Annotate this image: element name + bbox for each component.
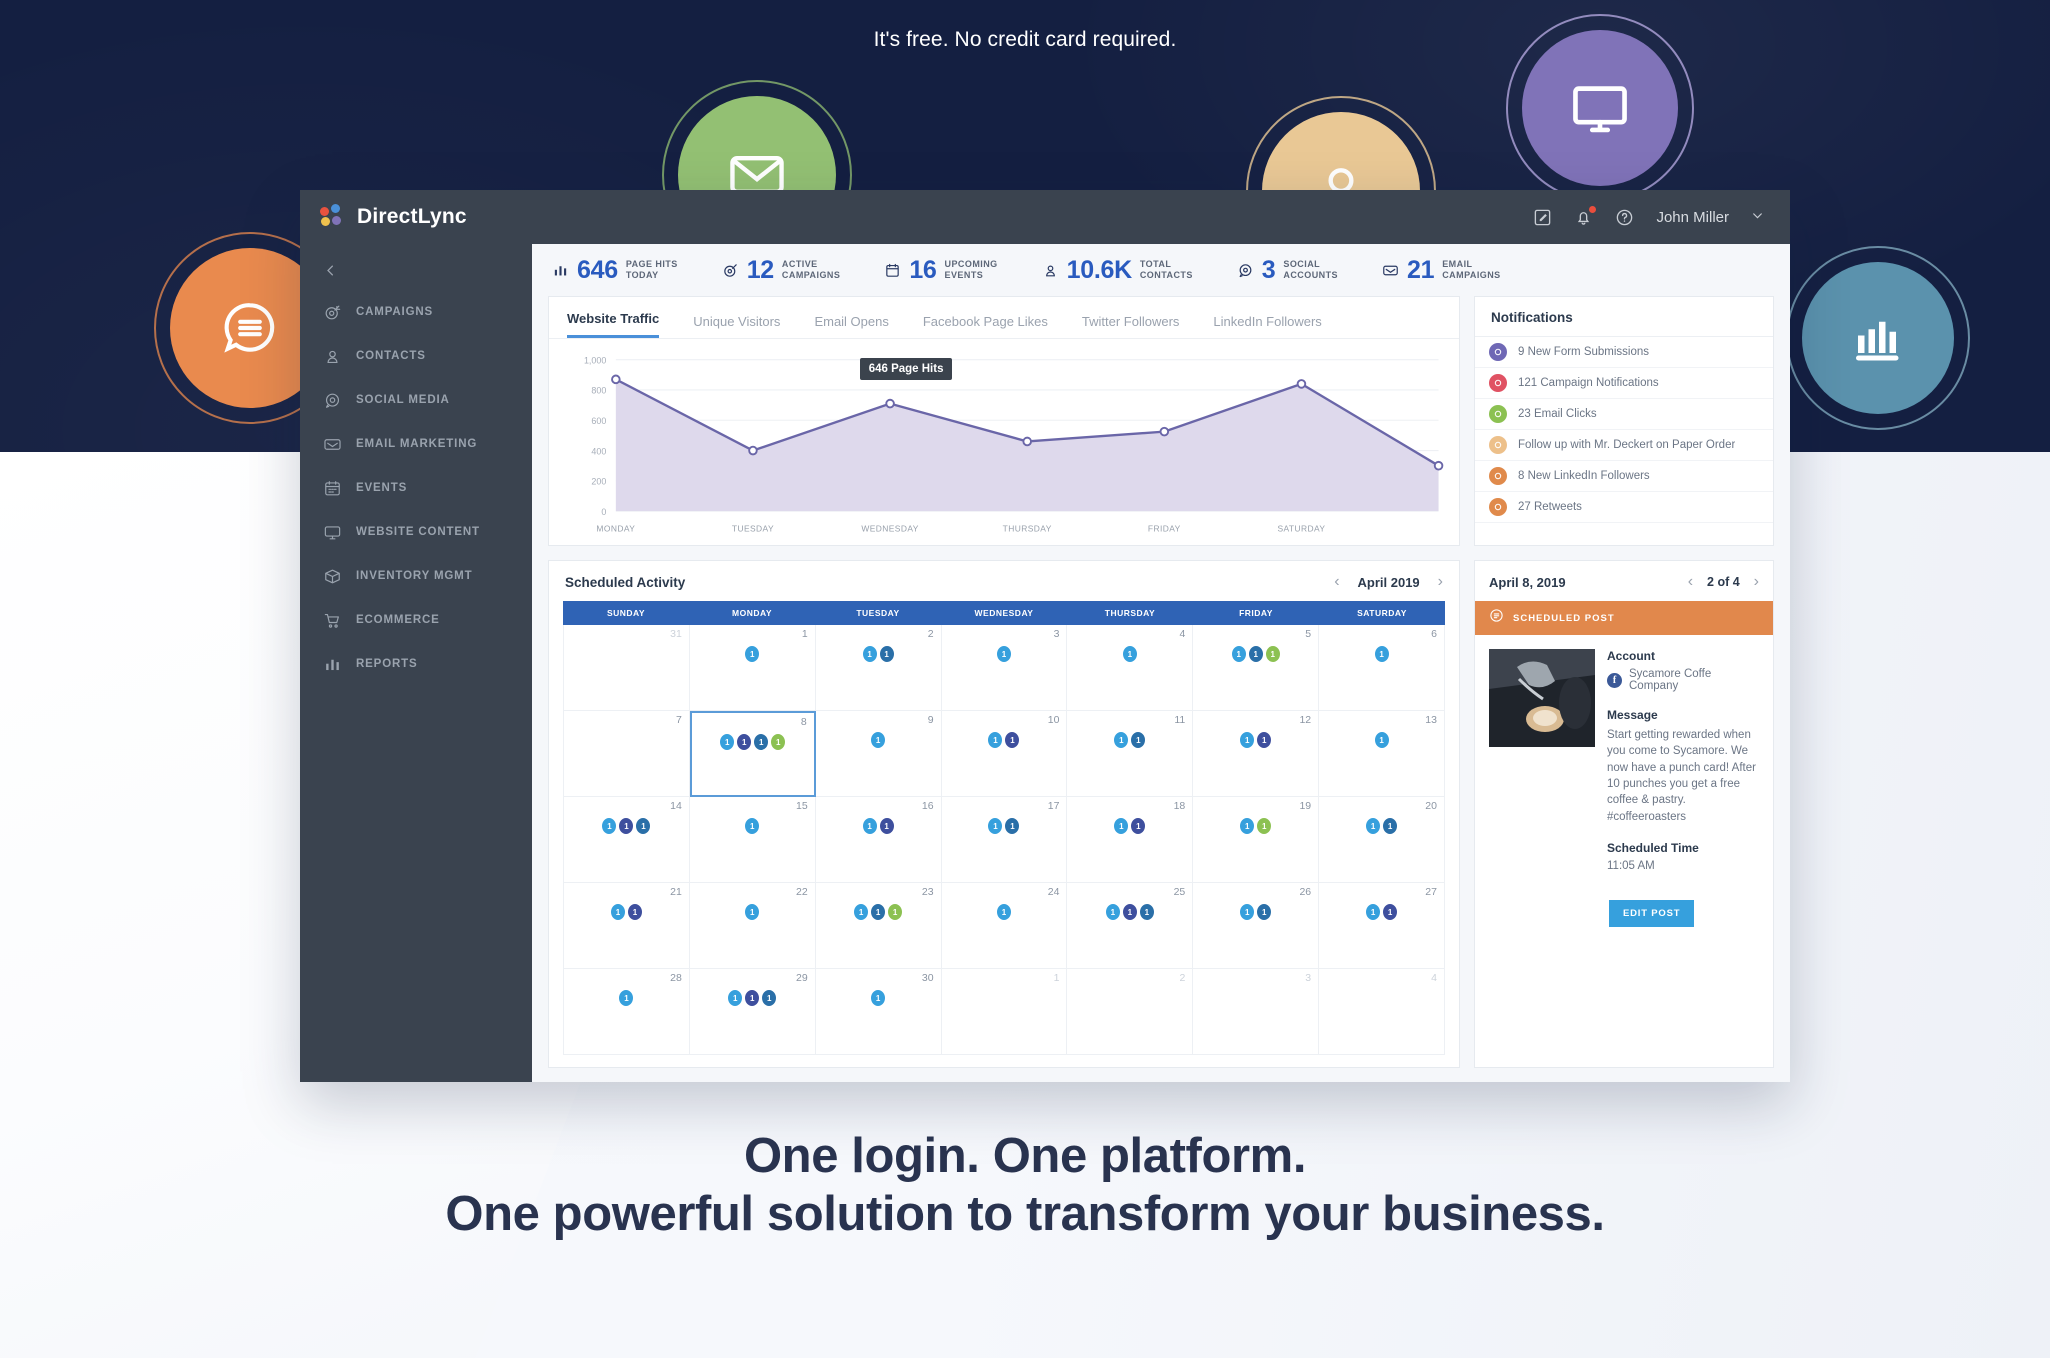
post-thumbnail — [1489, 649, 1595, 747]
calendar-day-cell[interactable]: 2111 — [564, 883, 690, 969]
calendar-event-dot[interactable]: 1 — [1249, 646, 1263, 662]
calendar-day-number: 17 — [1048, 800, 1060, 812]
post-message-label: Message — [1607, 708, 1759, 722]
calendar-day-number: 26 — [1299, 886, 1311, 898]
calendar-event-dot[interactable]: 1 — [1140, 904, 1154, 920]
calendar-event-dot[interactable]: 1 — [1375, 646, 1389, 662]
compose-icon[interactable] — [1533, 208, 1552, 227]
calendar-event-dot[interactable]: 1 — [1131, 818, 1145, 834]
calendar-day-number: 6 — [1431, 628, 1437, 640]
calendar-event-dot[interactable]: 1 — [745, 990, 759, 1006]
brand: DirectLync — [300, 204, 532, 230]
dashboard-lower-row: Scheduled Activity ‹ April 2019 › SUNDAY… — [548, 560, 1774, 1068]
notification-text: 23 Email Clicks — [1518, 408, 1597, 420]
calendar-event-dot[interactable]: 1 — [871, 990, 885, 1006]
calendar-day-cell[interactable]: 1711 — [942, 797, 1068, 883]
calendar-prev-button[interactable]: ‹ — [1334, 573, 1339, 591]
calendar-event-dots: 11 — [816, 646, 941, 662]
edit-post-button[interactable]: EDIT POST — [1609, 900, 1694, 927]
sidebar-label: ECOMMERCE — [356, 614, 440, 626]
stat-page-hits: 646 PAGE HITS TODAY — [552, 256, 678, 285]
notification-item[interactable]: 121 Campaign Notifications — [1475, 368, 1773, 399]
calendar-event-dot[interactable]: 1 — [611, 904, 625, 920]
sidebar-label: REPORTS — [356, 658, 418, 670]
calendar-event-dot[interactable]: 1 — [1240, 818, 1254, 834]
calendar-day-cell[interactable]: 14111 — [564, 797, 690, 883]
chat-icon — [323, 391, 342, 410]
chart-badge — [1802, 262, 1954, 414]
main-content: 646 PAGE HITS TODAY 12 ACTIVE CAMPAIGNS — [532, 244, 1790, 1082]
calendar-day-number: 2 — [928, 628, 934, 640]
sidebar-label: WEBSITE CONTENT — [356, 526, 480, 538]
contact-icon — [1489, 436, 1507, 454]
target-icon — [323, 303, 342, 322]
calendar-event-dots: 11 — [1067, 818, 1192, 834]
stat-value: 12 — [747, 256, 774, 285]
calendar-day-cell[interactable]: 301 — [816, 969, 942, 1055]
calendar-event-dots: 1 — [942, 646, 1067, 662]
monitor-icon — [1569, 77, 1631, 139]
calendar-title: Scheduled Activity — [565, 575, 685, 590]
envelope-icon — [1382, 262, 1399, 279]
calendar-week: 281291113011234 — [564, 969, 1445, 1055]
calendar-day-number: 8 — [801, 716, 807, 728]
calendar-event-dot[interactable]: 1 — [880, 646, 894, 662]
svg-text:MONDAY: MONDAY — [596, 523, 635, 533]
app-body: CAMPAIGNS CONTACTS SOCI — [300, 244, 1790, 1082]
contact-icon — [1042, 262, 1059, 279]
calendar-event-dot[interactable]: 1 — [1240, 732, 1254, 748]
chat-icon — [1237, 262, 1254, 279]
calendar-event-dots: 1 — [1319, 646, 1444, 662]
calendar-day-cell[interactable]: 1011 — [942, 711, 1068, 797]
help-circle-icon[interactable] — [1615, 208, 1634, 227]
calendar-event-dot[interactable]: 1 — [1131, 732, 1145, 748]
target-icon — [1489, 374, 1507, 392]
calendar-event-dot[interactable]: 1 — [745, 646, 759, 662]
stat-line2: ACCOUNTS — [1283, 270, 1338, 280]
stat-line1: PAGE HITS — [626, 259, 678, 269]
calendar-event-dot[interactable]: 1 — [1383, 818, 1397, 834]
contact-icon — [323, 347, 342, 366]
calendar-event-dots: 111 — [564, 818, 689, 834]
calendar-grid: SUNDAYMONDAYTUESDAYWEDNESDAYTHURSDAYFRID… — [549, 601, 1459, 1067]
calendar-day-cell[interactable]: 151 — [690, 797, 816, 883]
calendar-day-cell[interactable]: 1 — [942, 969, 1068, 1055]
chart-tab-unique-visitors[interactable]: Unique Visitors — [693, 314, 780, 338]
calendar-day-cell[interactable]: 131 — [1319, 711, 1445, 797]
calendar-day-cell[interactable]: 221 — [690, 883, 816, 969]
calendar-event-dot[interactable]: 1 — [1257, 732, 1271, 748]
calendar-event-dots: 111 — [690, 990, 815, 1006]
post-banner-label: SCHEDULED POST — [1513, 613, 1615, 624]
calendar-event-dots: 11 — [942, 732, 1067, 748]
target-icon — [722, 262, 739, 279]
calendar-header: Scheduled Activity ‹ April 2019 › — [549, 561, 1459, 601]
calendar-event-dot[interactable]: 1 — [771, 734, 785, 750]
calendar-event-dot[interactable]: 1 — [745, 818, 759, 834]
calendar-event-dot[interactable]: 1 — [737, 734, 751, 750]
sidebar-item-inventory-mgmt[interactable]: INVENTORY MGMT — [300, 554, 532, 598]
calendar-day-number: 12 — [1299, 714, 1311, 726]
stat-upcoming-events: 16 UPCOMING EVENTS — [884, 256, 997, 285]
calendar-event-dots: 1 — [690, 646, 815, 662]
calendar-event-dot[interactable]: 1 — [1366, 904, 1380, 920]
calendar-event-dots: 11 — [816, 818, 941, 834]
chart-tab-website-traffic[interactable]: Website Traffic — [567, 311, 659, 338]
post-nav: ‹ 2 of 4 › — [1688, 573, 1759, 591]
calendar-day-number: 13 — [1425, 714, 1437, 726]
calendar-day-number: 25 — [1174, 886, 1186, 898]
calendar-event-dot[interactable]: 1 — [1375, 732, 1389, 748]
post-time: 11:05 AM — [1607, 860, 1759, 872]
calendar-day-cell[interactable]: 211 — [816, 625, 942, 711]
notifications-title: Notifications — [1475, 297, 1773, 337]
sidebar-collapse-button[interactable] — [300, 250, 532, 290]
calendar-event-dots: 1 — [942, 904, 1067, 920]
chart-tooltip: 646 Page Hits — [860, 358, 953, 380]
calendar-dow-wednesday: WEDNESDAY — [941, 601, 1067, 625]
calendar-nav: ‹ April 2019 › — [1334, 573, 1443, 591]
calendar-event-dot[interactable]: 1 — [636, 818, 650, 834]
calendar-event-dot[interactable]: 1 — [1257, 818, 1271, 834]
chevron-down-icon[interactable] — [1751, 209, 1764, 225]
headline-line-2: One powerful solution to transform your … — [0, 1186, 2050, 1244]
bar-chart-icon — [552, 262, 569, 279]
sidebar-item-email-marketing[interactable]: EMAIL MARKETING — [300, 422, 532, 466]
calendar-day-number: 31 — [670, 628, 682, 640]
calendar-event-dots: 1 — [1319, 732, 1444, 748]
calendar-event-dots: 1 — [690, 904, 815, 920]
calendar-dow-saturday: SATURDAY — [1319, 601, 1445, 625]
post-account-name: Sycamore Coffe Company — [1629, 668, 1759, 692]
hero-tagline: It's free. No credit card required. — [0, 28, 2050, 52]
stat-line1: ACTIVE — [782, 259, 818, 269]
calendar-day-number: 28 — [670, 972, 682, 984]
stats-bar: 646 PAGE HITS TODAY 12 ACTIVE CAMPAIGNS — [548, 244, 1774, 296]
notifications-list: 9 New Form Submissions121 Campaign Notif… — [1475, 337, 1773, 545]
calendar-day-number: 4 — [1179, 628, 1185, 640]
calendar-day-cell[interactable]: 81111 — [690, 711, 816, 797]
notification-text: 9 New Form Submissions — [1518, 346, 1649, 358]
calendar-event-dot[interactable]: 1 — [1240, 904, 1254, 920]
calendar-event-dot[interactable]: 1 — [863, 646, 877, 662]
chart-tab-twitter-followers[interactable]: Twitter Followers — [1082, 314, 1180, 338]
calendar-event-dots: 1 — [816, 990, 941, 1006]
post-account: f Sycamore Coffe Company — [1607, 668, 1759, 692]
chart-tab-facebook-page-likes[interactable]: Facebook Page Likes — [923, 314, 1048, 338]
stat-line2: EVENTS — [945, 270, 984, 280]
calendar-event-dot[interactable]: 1 — [619, 818, 633, 834]
calendar-day-number: 14 — [670, 800, 682, 812]
stat-line2: CAMPAIGNS — [782, 270, 840, 280]
calendar-event-dots: 11 — [1193, 904, 1318, 920]
calendar-event-dot[interactable]: 1 — [1123, 904, 1137, 920]
calendar-day-cell[interactable]: 1211 — [1193, 711, 1319, 797]
post-message: Start getting rewarded when you come to … — [1607, 727, 1759, 825]
calendar-event-dot[interactable]: 1 — [628, 904, 642, 920]
calendar-day-cell[interactable]: 1911 — [1193, 797, 1319, 883]
stat-value: 21 — [1407, 256, 1434, 285]
chat-bubble-icon — [219, 297, 281, 359]
calendar-icon — [323, 479, 342, 498]
stat-line1: TOTAL — [1140, 259, 1171, 269]
facebook-icon: f — [1607, 673, 1622, 688]
calendar-event-dots: 1 — [1067, 646, 1192, 662]
sidebar-item-contacts[interactable]: CONTACTS — [300, 334, 532, 378]
form-icon — [1489, 343, 1507, 361]
sidebar-item-website-content[interactable]: WEBSITE CONTENT — [300, 510, 532, 554]
calendar-event-dot[interactable]: 1 — [988, 818, 1002, 834]
calendar-day-cell[interactable]: 3 — [1193, 969, 1319, 1055]
calendar-day-cell[interactable]: 11 — [690, 625, 816, 711]
svg-text:1,000: 1,000 — [584, 355, 606, 365]
calendar-day-cell[interactable]: 31 — [942, 625, 1068, 711]
svg-text:FRIDAY: FRIDAY — [1148, 523, 1181, 533]
calendar-day-cell[interactable]: 2611 — [1193, 883, 1319, 969]
traffic-chart-svg: 02004006008001,000MONDAYTUESDAYWEDNESDAY… — [561, 349, 1447, 541]
post-body: Account f Sycamore Coffe Company Message… — [1475, 635, 1773, 886]
svg-text:600: 600 — [591, 416, 606, 426]
post-counter: 2 of 4 — [1707, 575, 1740, 589]
chart-tab-email-opens[interactable]: Email Opens — [814, 314, 888, 338]
calendar-day-cell[interactable]: 2711 — [1319, 883, 1445, 969]
calendar-day-cell[interactable]: 91 — [816, 711, 942, 797]
calendar-event-dot[interactable]: 1 — [602, 818, 616, 834]
calendar-event-dot[interactable]: 1 — [854, 904, 868, 920]
calendar-day-cell[interactable]: 7 — [564, 711, 690, 797]
svg-text:200: 200 — [591, 477, 606, 487]
calendar-event-dot[interactable]: 1 — [720, 734, 734, 750]
calendar-event-dots: 11 — [1193, 732, 1318, 748]
calendar-dow-friday: FRIDAY — [1193, 601, 1319, 625]
calendar-event-dot[interactable]: 1 — [728, 990, 742, 1006]
chart-tab-linkedin-followers[interactable]: LinkedIn Followers — [1213, 314, 1321, 338]
sidebar-item-reports[interactable]: REPORTS — [300, 642, 532, 686]
cart-icon — [323, 611, 342, 630]
svg-text:WEDNESDAY: WEDNESDAY — [861, 523, 918, 533]
calendar-event-dot[interactable]: 1 — [1232, 646, 1246, 662]
brand-name: DirectLync — [357, 205, 467, 229]
calendar-event-dots: 11 — [1067, 732, 1192, 748]
calendar-day-cell[interactable]: 5111 — [1193, 625, 1319, 711]
notification-item[interactable]: 23 Email Clicks — [1475, 399, 1773, 430]
calendar-event-dots: 111 — [1067, 904, 1192, 920]
calendar-event-dot[interactable]: 1 — [1106, 904, 1120, 920]
bar-chart-icon — [323, 655, 342, 674]
calendar-day-cell[interactable]: 23111 — [816, 883, 942, 969]
calendar-icon — [884, 262, 901, 279]
calendar-event-dot[interactable]: 1 — [871, 732, 885, 748]
calendar-day-headers: SUNDAYMONDAYTUESDAYWEDNESDAYTHURSDAYFRID… — [563, 601, 1445, 625]
stat-line1: EMAIL — [1442, 259, 1472, 269]
calendar-event-dots: 111 — [1193, 646, 1318, 662]
post-fields: Account f Sycamore Coffe Company Message… — [1607, 649, 1759, 872]
calendar-event-dot[interactable]: 1 — [745, 904, 759, 920]
envelope-icon — [323, 435, 342, 454]
post-time-label: Scheduled Time — [1607, 841, 1759, 855]
stat-value: 3 — [1262, 256, 1276, 285]
post-footer: EDIT POST — [1475, 886, 1773, 943]
calendar-event-dot[interactable]: 1 — [880, 818, 894, 834]
sidebar-item-social-media[interactable]: SOCIAL MEDIA — [300, 378, 532, 422]
notification-item[interactable]: Follow up with Mr. Deckert on Paper Orde… — [1475, 430, 1773, 461]
calendar-week: 1411115116111711181119112011 — [564, 797, 1445, 883]
svg-text:400: 400 — [591, 446, 606, 456]
calendar-event-dots: 1 — [564, 990, 689, 1006]
calendar-day-cell[interactable]: 41 — [1067, 625, 1193, 711]
notification-item[interactable]: 27 Retweets — [1475, 492, 1773, 523]
calendar-day-number: 16 — [922, 800, 934, 812]
calendar-event-dot[interactable]: 1 — [1383, 904, 1397, 920]
app-topbar: DirectLync — [300, 190, 1790, 244]
stat-line2: TODAY — [626, 270, 659, 280]
stat-line2: CONTACTS — [1140, 270, 1193, 280]
svg-text:800: 800 — [591, 386, 606, 396]
sidebar-item-events[interactable]: EVENTS — [300, 466, 532, 510]
sidebar-label: CONTACTS — [356, 350, 426, 362]
notifications-card: Notifications 9 New Form Submissions121 … — [1474, 296, 1774, 546]
envelope-icon — [1489, 405, 1507, 423]
calendar-event-dots: 11 — [1319, 818, 1444, 834]
box-icon — [323, 567, 342, 586]
calendar-event-dots: 11 — [1193, 818, 1318, 834]
calendar-event-dot[interactable]: 1 — [1266, 646, 1280, 662]
calendar-event-dots: 11 — [942, 818, 1067, 834]
calendar-day-cell[interactable]: 241 — [942, 883, 1068, 969]
notification-text: 8 New LinkedIn Followers — [1518, 470, 1650, 482]
app-window: DirectLync — [300, 190, 1790, 1082]
post-time-block: Scheduled Time 11:05 AM — [1607, 841, 1759, 872]
calendar-event-dot[interactable]: 1 — [997, 904, 1011, 920]
stat-line2: CAMPAIGNS — [1442, 270, 1500, 280]
calendar-day-cell[interactable]: 2011 — [1319, 797, 1445, 883]
stat-line1: UPCOMING — [945, 259, 998, 269]
post-next-button[interactable]: › — [1754, 573, 1759, 591]
calendar-event-dot[interactable]: 1 — [871, 904, 885, 920]
stat-social-accounts: 3 SOCIAL ACCOUNTS — [1237, 256, 1338, 285]
calendar-month: April 2019 — [1358, 575, 1420, 590]
sidebar-item-campaigns[interactable]: CAMPAIGNS — [300, 290, 532, 334]
stat-email-campaigns: 21 EMAIL CAMPAIGNS — [1382, 256, 1501, 285]
calendar-day-cell[interactable]: 61 — [1319, 625, 1445, 711]
calendar-day-number: 24 — [1048, 886, 1060, 898]
notification-item[interactable]: 8 New LinkedIn Followers — [1475, 461, 1773, 492]
calendar-day-number: 7 — [676, 714, 682, 726]
calendar-week: 78111191101111111211131 — [564, 711, 1445, 797]
calendar-event-dot[interactable]: 1 — [988, 732, 1002, 748]
screen-badge — [1522, 30, 1678, 186]
chart-tabs: Website TrafficUnique VisitorsEmail Open… — [549, 297, 1459, 339]
calendar-day-cell[interactable]: 29111 — [690, 969, 816, 1055]
calendar-day-number: 3 — [1054, 628, 1060, 640]
calendar-day-number: 10 — [1048, 714, 1060, 726]
post-prev-button[interactable]: ‹ — [1688, 573, 1693, 591]
calendar-day-number: 3 — [1305, 972, 1311, 984]
calendar-event-dot[interactable]: 1 — [1366, 818, 1380, 834]
calendar-dow-tuesday: TUESDAY — [815, 601, 941, 625]
calendar-event-dot[interactable]: 1 — [754, 734, 768, 750]
calendar-day-number: 19 — [1299, 800, 1311, 812]
calendar-event-dot[interactable]: 1 — [997, 646, 1011, 662]
calendar-event-dots: 11 — [1319, 904, 1444, 920]
calendar-event-dot[interactable]: 1 — [1005, 732, 1019, 748]
calendar-event-dot[interactable]: 1 — [1114, 732, 1128, 748]
calendar-event-dot[interactable]: 1 — [762, 990, 776, 1006]
chat-icon — [1489, 498, 1507, 516]
calendar-day-cell[interactable]: 2 — [1067, 969, 1193, 1055]
calendar-day-number: 1 — [802, 628, 808, 640]
calendar-event-dot[interactable]: 1 — [888, 904, 902, 920]
calendar-event-dot[interactable]: 1 — [619, 990, 633, 1006]
sidebar-label: CAMPAIGNS — [356, 306, 433, 318]
post-account-label: Account — [1607, 649, 1759, 663]
calendar-day-number: 18 — [1174, 800, 1186, 812]
calendar-event-dot[interactable]: 1 — [1005, 818, 1019, 834]
bar-chart-icon — [1848, 308, 1908, 368]
page-root: It's free. No credit card required. — [0, 0, 2050, 1358]
topbar-actions: John Miller — [1533, 208, 1790, 227]
calendar-event-dot[interactable]: 1 — [863, 818, 877, 834]
calendar-day-number: 9 — [928, 714, 934, 726]
calendar-event-dot[interactable]: 1 — [1257, 904, 1271, 920]
calendar-event-dots: 1111 — [692, 734, 814, 750]
scheduled-post-card: April 8, 2019 ‹ 2 of 4 › — [1474, 560, 1774, 1068]
stat-value: 10.6K — [1067, 256, 1132, 285]
calendar-day-cell[interactable]: 25111 — [1067, 883, 1193, 969]
calendar-event-dots: 1 — [690, 818, 815, 834]
calendar-day-cell[interactable]: 1811 — [1067, 797, 1193, 883]
notification-text: 27 Retweets — [1518, 501, 1582, 513]
calendar-day-number: 27 — [1425, 886, 1437, 898]
scheduled-activity-card: Scheduled Activity ‹ April 2019 › SUNDAY… — [548, 560, 1460, 1068]
calendar-day-number: 30 — [922, 972, 934, 984]
calendar-next-button[interactable]: › — [1438, 573, 1443, 591]
calendar-day-number: 4 — [1431, 972, 1437, 984]
sidebar-item-ecommerce[interactable]: ECOMMERCE — [300, 598, 532, 642]
calendar-day-cell[interactable]: 4 — [1319, 969, 1445, 1055]
sidebar-label: EMAIL MARKETING — [356, 438, 477, 450]
post-banner: SCHEDULED POST — [1475, 601, 1773, 635]
traffic-chart: 02004006008001,000MONDAYTUESDAYWEDNESDAY… — [549, 339, 1459, 545]
calendar-event-dot[interactable]: 1 — [1114, 818, 1128, 834]
notification-text: Follow up with Mr. Deckert on Paper Orde… — [1518, 439, 1735, 451]
calendar-day-number: 2 — [1179, 972, 1185, 984]
calendar-day-number: 20 — [1425, 800, 1437, 812]
bell-icon[interactable] — [1574, 208, 1593, 227]
calendar-event-dot[interactable]: 1 — [1123, 646, 1137, 662]
sidebar-label: SOCIAL MEDIA — [356, 394, 450, 406]
sidebar-label: EVENTS — [356, 482, 407, 494]
stat-line1: SOCIAL — [1283, 259, 1320, 269]
calendar-day-cell[interactable]: 31 — [564, 625, 690, 711]
svg-text:0: 0 — [601, 507, 606, 517]
notification-item[interactable]: 9 New Form Submissions — [1475, 337, 1773, 368]
calendar-day-cell[interactable]: 1611 — [816, 797, 942, 883]
calendar-day-number: 11 — [1174, 714, 1185, 726]
svg-text:SATURDAY: SATURDAY — [1277, 523, 1325, 533]
calendar-day-number: 23 — [922, 886, 934, 898]
dashboard-upper-row: Website TrafficUnique VisitorsEmail Open… — [548, 296, 1774, 546]
calendar-day-cell[interactable]: 1111 — [1067, 711, 1193, 797]
stat-active-campaigns: 12 ACTIVE CAMPAIGNS — [722, 256, 841, 285]
user-name[interactable]: John Miller — [1656, 209, 1729, 226]
hero-headline: One login. One platform. One powerful so… — [0, 1128, 2050, 1244]
calendar-day-cell[interactable]: 281 — [564, 969, 690, 1055]
website-traffic-card: Website TrafficUnique VisitorsEmail Open… — [548, 296, 1460, 546]
directlync-logo-icon — [320, 204, 346, 230]
post-icon — [1489, 608, 1504, 628]
